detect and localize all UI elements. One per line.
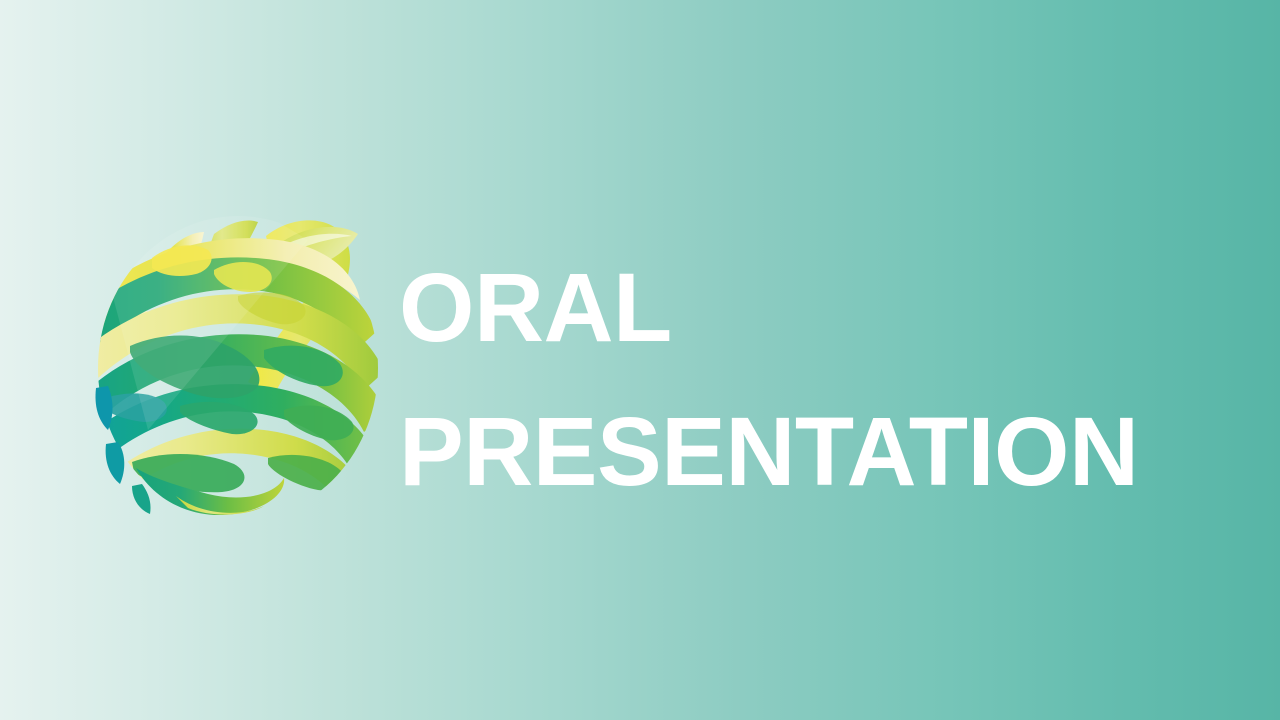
globe-leaf-logo bbox=[88, 200, 388, 520]
ribbon-cap-left-3 bbox=[132, 484, 151, 514]
title-line-oral: ORAL bbox=[399, 236, 1219, 380]
spiral-globe-icon bbox=[88, 200, 388, 520]
presentation-slide: ORAL PRESENTATION bbox=[0, 0, 1280, 720]
title-line-presentation: PRESENTATION bbox=[399, 380, 1219, 524]
slide-title: ORAL PRESENTATION bbox=[399, 236, 1219, 523]
ribbon-cap-left-1 bbox=[96, 386, 113, 430]
globe-spiral-bands bbox=[88, 200, 386, 518]
ribbon-cap-left-2 bbox=[106, 442, 125, 484]
